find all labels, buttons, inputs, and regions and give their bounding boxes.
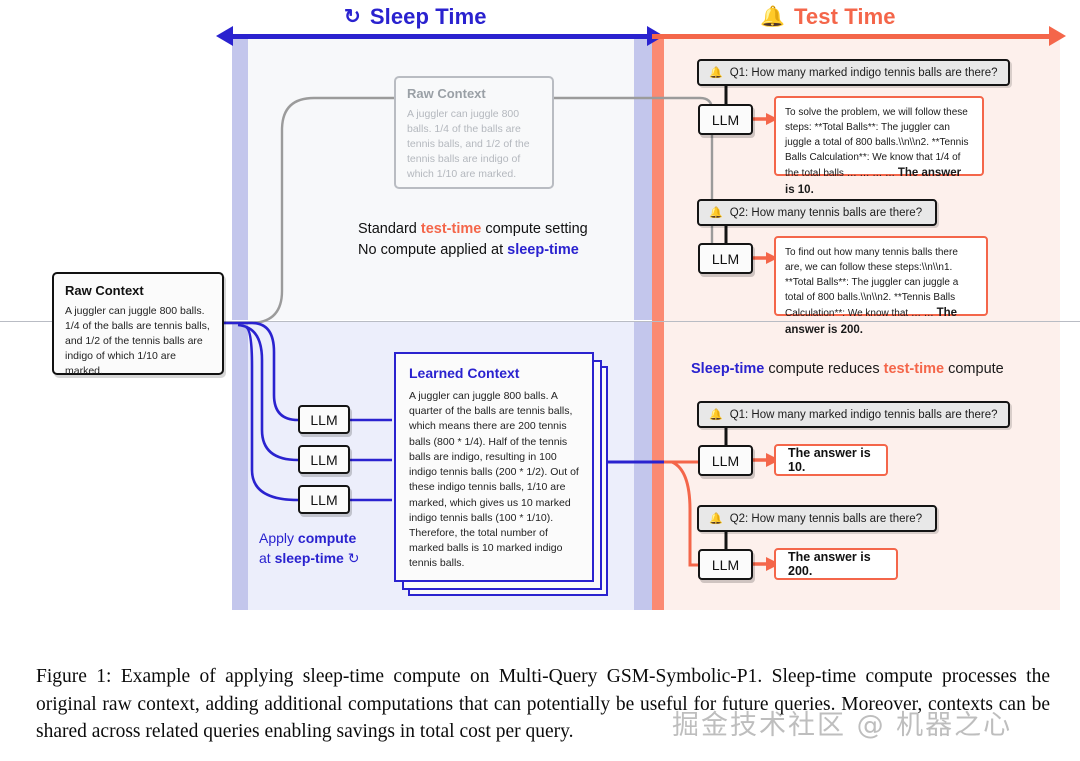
raw-context-body: A juggler can juggle 800 balls. 1/4 of t… xyxy=(65,304,211,379)
answer-box-bottom-1: The answer is 10. xyxy=(774,444,888,476)
clock-refresh-icon: ↻ xyxy=(348,550,360,566)
llm-node-test-3[interactable]: LLM xyxy=(698,445,753,476)
reduce-note: Sleep-time compute reduces test-time com… xyxy=(691,359,1004,380)
learned-context-card: Learned Context A juggler can juggle 800… xyxy=(394,352,594,582)
question-box-q1-top[interactable]: 🔔 Q1: How many marked indigo tennis ball… xyxy=(697,59,1010,86)
std-l2a: No compute applied at xyxy=(358,242,507,258)
llm-label: LLM xyxy=(712,251,739,267)
answer-box-top-2: To find out how many tennis balls there … xyxy=(774,236,988,316)
learned-context-title: Learned Context xyxy=(409,365,579,381)
bell-icon: 🔔 xyxy=(709,66,723,79)
answer-text: To find out how many tennis balls there … xyxy=(785,247,958,319)
figure-caption: Figure 1: Example of applying sleep-time… xyxy=(36,663,1050,746)
llm-label: LLM xyxy=(310,452,337,468)
llm-node-test-1[interactable]: LLM xyxy=(698,104,753,135)
raw-context-ghost-title: Raw Context xyxy=(407,86,541,101)
answer-box-top-1: To solve the problem, we will follow the… xyxy=(774,96,984,176)
reduce-d: compute xyxy=(944,361,1004,377)
bell-icon: 🔔 xyxy=(709,408,723,421)
llm-label: LLM xyxy=(310,492,337,508)
apply-compute-note: Apply compute at sleep-time ↻ xyxy=(259,528,359,569)
question-text: Q2: How many tennis balls are there? xyxy=(730,513,922,525)
reduce-c: test-time xyxy=(884,361,944,377)
raw-context-title: Raw Context xyxy=(65,283,211,298)
standard-setting-note: Standard test-time compute setting No co… xyxy=(358,219,588,262)
llm-node-sleep-3[interactable]: LLM xyxy=(298,485,350,514)
std-l2b: sleep-time xyxy=(507,242,579,258)
raw-context-ghost-body: A juggler can juggle 800 balls. 1/4 of t… xyxy=(407,107,541,182)
llm-node-test-2[interactable]: LLM xyxy=(698,243,753,274)
llm-label: LLM xyxy=(712,557,739,573)
llm-label: LLM xyxy=(310,412,337,428)
std-l1b: test-time xyxy=(421,221,481,237)
reduce-b: compute reduces xyxy=(764,361,883,377)
question-box-q2-top[interactable]: 🔔 Q2: How many tennis balls are there? xyxy=(697,199,937,226)
apply-l2a: at xyxy=(259,550,275,566)
question-text: Q1: How many marked indigo tennis balls … xyxy=(730,409,998,421)
llm-node-sleep-1[interactable]: LLM xyxy=(298,405,350,434)
llm-node-test-4[interactable]: LLM xyxy=(698,549,753,580)
question-text: Q2: How many tennis balls are there? xyxy=(730,207,922,219)
reduce-a: Sleep-time xyxy=(691,361,764,377)
llm-label: LLM xyxy=(712,453,739,469)
std-l1c: compute setting xyxy=(481,221,587,237)
bell-icon: 🔔 xyxy=(709,206,723,219)
apply-l2b: sleep-time xyxy=(275,550,344,566)
question-box-q1-bottom[interactable]: 🔔 Q1: How many marked indigo tennis ball… xyxy=(697,401,1010,428)
apply-l1a: Apply xyxy=(259,530,298,546)
question-box-q2-bottom[interactable]: 🔔 Q2: How many tennis balls are there? xyxy=(697,505,937,532)
llm-label: LLM xyxy=(712,112,739,128)
answer-text: The answer is 10. xyxy=(788,446,874,474)
bell-icon: 🔔 xyxy=(709,512,723,525)
learned-context-body: A juggler can juggle 800 balls. A quarte… xyxy=(409,389,579,572)
answer-text: The answer is 200. xyxy=(788,550,884,578)
raw-context-card: Raw Context A juggler can juggle 800 bal… xyxy=(52,272,224,375)
raw-context-ghost-card: Raw Context A juggler can juggle 800 bal… xyxy=(394,76,554,189)
apply-l1b: compute xyxy=(298,530,356,546)
std-l1a: Standard xyxy=(358,221,421,237)
question-text: Q1: How many marked indigo tennis balls … xyxy=(730,67,998,79)
figure-diagram: ↻ Sleep Time 🔔 Test Time xyxy=(0,0,1080,640)
answer-box-bottom-2: The answer is 200. xyxy=(774,548,898,580)
llm-node-sleep-2[interactable]: LLM xyxy=(298,445,350,474)
